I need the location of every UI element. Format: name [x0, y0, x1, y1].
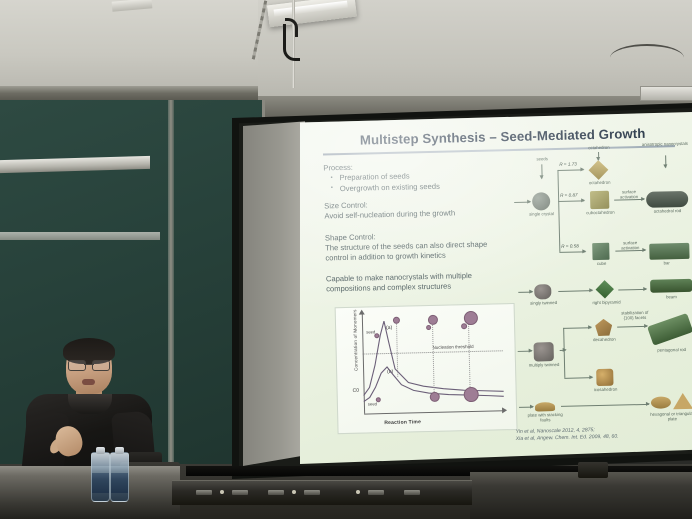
scheme-label-singly-twinned: singly twinned	[525, 300, 563, 306]
shape-singly-twinned-icon	[534, 284, 551, 299]
scheme-label-cube: cube	[586, 261, 618, 267]
capability-text: Capable to make nanocrystals with multip…	[326, 270, 494, 295]
scheme-label-seeds: seeds	[525, 156, 559, 162]
scheme-label-pentagonal-rod: pentagonal rod	[650, 347, 692, 353]
console-led-3	[356, 490, 360, 494]
shape-plate-stacking-icon	[535, 402, 555, 411]
scheme-label-cuboctahedron: cuboctahedron	[580, 209, 620, 215]
chart-seed-dot-1	[374, 333, 379, 338]
scheme-label-single-crystal: single crystal	[522, 211, 560, 217]
hanging-wire	[610, 44, 684, 72]
shape-hex-plate-icon	[651, 396, 671, 408]
shape-triangular-plate-icon	[673, 393, 692, 409]
scheme-arrow-cubocta	[558, 200, 584, 202]
console-button-1[interactable]	[196, 490, 212, 495]
right-desk-object	[578, 462, 608, 478]
scheme-label-decahedron: decahedron	[585, 336, 623, 342]
shape-control-text: The structure of the seeds can also dire…	[325, 239, 500, 264]
growth-pathway-scheme: seeds single crystal R = 1.73 R = 0.87 R…	[507, 153, 692, 427]
chart-curves	[336, 304, 517, 433]
glasses-right-lens	[92, 360, 110, 371]
chart-particle-a2b	[426, 325, 431, 330]
shape-decahedron-icon	[595, 319, 612, 336]
scheme-label-anisotropic: anisotropic nanocrystals	[639, 141, 691, 147]
water-bottle-1	[91, 452, 110, 502]
chalk-rail-lower	[0, 232, 160, 240]
scheme-label-octahedron-top: octahedron	[581, 145, 617, 151]
wall-vent	[640, 86, 692, 101]
citation-line-2: Xia et al, Angew. Chem. Int. Ed. 2009, 4…	[516, 434, 619, 443]
presenter-mouth	[82, 379, 95, 385]
scheme-label-icosahedron: icosahedron	[587, 386, 625, 392]
shape-cube-icon	[592, 243, 609, 260]
av-control-console[interactable]	[172, 480, 472, 505]
water-bottle-2	[110, 452, 129, 502]
shape-octahedral-rod-icon	[646, 191, 688, 208]
scheme-arrow-cube	[559, 251, 585, 253]
scheme-r-value-1: R = 1.73	[559, 161, 577, 166]
scheme-arrow-octa	[557, 169, 583, 171]
console-button-6[interactable]	[404, 490, 420, 495]
lecture-hall-photo: Multistep Synthesis – Seed-Mediated Grow…	[0, 0, 692, 519]
scheme-branch-line-2	[563, 328, 565, 378]
scheme-label-plate-stacking: plate with stacking faults	[523, 412, 567, 423]
console-button-2[interactable]	[232, 490, 248, 495]
console-button-4[interactable]	[304, 490, 320, 495]
shape-single-crystal-icon	[532, 192, 550, 210]
bottle-label-1	[92, 473, 109, 493]
bottle-cap-2	[115, 447, 124, 454]
shape-pentagonal-rod-icon	[647, 313, 692, 346]
shape-cuboctahedron-icon	[590, 191, 609, 209]
scheme-arrow-icosa	[564, 377, 592, 379]
screen-unlit-margin	[243, 110, 305, 466]
scheme-arrow-plate-in	[519, 407, 533, 408]
scheme-arrow-pent	[617, 326, 647, 328]
bullet-item-2: Overgrowth on existing seeds	[330, 181, 440, 194]
chart-particle-a3b	[461, 323, 467, 329]
right-desk	[470, 472, 692, 519]
scheme-label-stabilization: stabilization of {100} facets	[617, 310, 653, 321]
bottle-label-2	[111, 473, 128, 493]
shape-bar-icon	[649, 243, 689, 260]
shape-octahedron-icon	[589, 160, 609, 180]
console-led-2	[292, 490, 296, 494]
hook-icon	[283, 24, 300, 61]
scheme-arrow-singly	[518, 292, 532, 293]
scheme-arrow-plate-out	[561, 404, 649, 407]
scheme-label-octahedron: octahedron	[582, 180, 618, 186]
shape-icosahedron-icon	[596, 369, 613, 386]
scheme-arrow-deca	[563, 327, 591, 329]
lecture-desk	[0, 466, 180, 519]
scheme-arrow-seeds	[541, 164, 542, 178]
scheme-label-hex-tri-plate: hexagonal or triangular plate	[647, 411, 692, 423]
scheme-arrow-bipyr	[558, 290, 592, 292]
lamer-chart: Concentration of Monomers Reaction Time …	[335, 303, 518, 434]
scheme-r-value-3: R = 0.58	[561, 243, 579, 248]
console-button-3[interactable]	[268, 490, 284, 495]
blackboard-divider	[168, 100, 174, 472]
scheme-arrow-multiply	[518, 351, 532, 352]
scheme-label-octahedral-rod: octahedral rod	[644, 208, 690, 214]
process-bullet-list: Preparation of seeds Overgrowth on exist…	[329, 171, 440, 195]
glasses-icon	[68, 360, 110, 369]
scheme-label-surface-activation-1: surface activation	[614, 189, 644, 200]
presentation-slide: Multistep Synthesis – Seed-Mediated Grow…	[300, 112, 692, 464]
scheme-label-surface-activation-2: surface activation	[615, 240, 645, 251]
scheme-arrow-beam	[618, 289, 646, 291]
console-button-5[interactable]	[368, 490, 384, 495]
scheme-label-right-bipyramid: right bipyramid	[587, 299, 627, 305]
glasses-bridge	[84, 364, 94, 365]
scheme-label-beam: beam	[656, 294, 686, 300]
scheme-arrow-octa-top	[598, 152, 599, 160]
scheme-label-bar: bar	[650, 260, 684, 266]
scheme-arrow-in	[514, 202, 530, 203]
size-control-text: Avoid self-nucleation during the growth	[324, 208, 455, 221]
scheme-r-value-2: R = 0.87	[560, 192, 578, 197]
shape-right-bipyramid-icon	[596, 280, 614, 298]
shape-multiply-twinned-icon	[533, 342, 553, 361]
bottle-cap-1	[96, 447, 105, 454]
scheme-arrow-anisotropic	[665, 155, 666, 167]
scheme-arrow-to-branch	[560, 350, 566, 351]
glasses-left-lens	[68, 360, 86, 371]
slide-citations: Yin et al, Nanoscale 2012, 4, 2875; Xia …	[516, 427, 619, 443]
shape-beam-icon	[650, 279, 692, 293]
scheme-label-multiply-twinned: multiply twinned	[524, 362, 564, 368]
console-led-1	[220, 490, 224, 494]
chart-seed-dot-2	[376, 397, 381, 402]
